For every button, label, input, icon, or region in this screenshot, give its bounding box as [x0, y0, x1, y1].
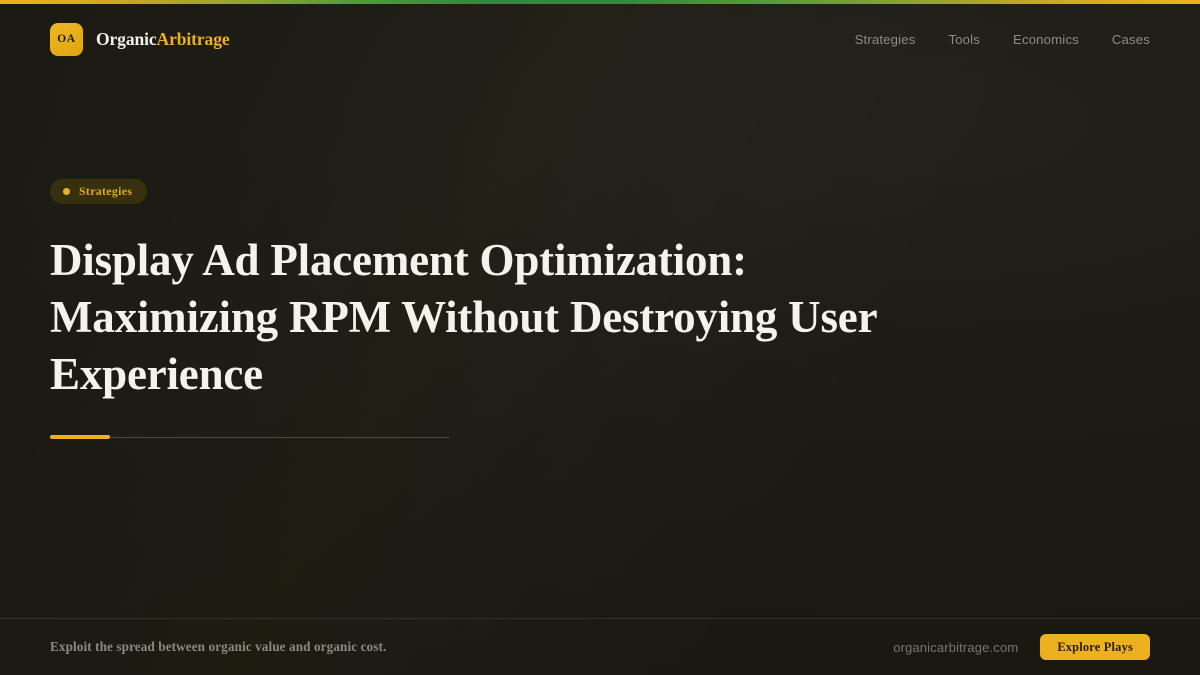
page-root: OA OrganicArbitrage Strategies Tools Eco… [0, 0, 1200, 675]
top-accent-gradient-bar [0, 0, 1200, 4]
brand-name-accent: Arbitrage [157, 29, 230, 49]
footer-domain-label: organicarbitrage.com [893, 640, 1018, 655]
category-badge[interactable]: Strategies [50, 179, 147, 204]
footer-actions: organicarbitrage.com Explore Plays [893, 634, 1150, 660]
category-badge-label: Strategies [79, 184, 132, 199]
divider-faint-segment [110, 437, 450, 438]
page-title: Display Ad Placement Optimization: Maxim… [50, 232, 980, 403]
site-footer: Exploit the spread between organic value… [0, 618, 1200, 675]
hero-content: Strategies Display Ad Placement Optimiza… [50, 179, 1060, 439]
brand-name-primary: Organic [96, 29, 157, 49]
site-header: OA OrganicArbitrage Strategies Tools Eco… [0, 4, 1200, 74]
divider-accent-segment [50, 435, 110, 439]
footer-tagline: Exploit the spread between organic value… [50, 639, 386, 655]
brand-wordmark: OrganicArbitrage [96, 29, 230, 50]
brand-monogram-icon: OA [50, 23, 83, 56]
brand-logo[interactable]: OA OrganicArbitrage [50, 23, 230, 56]
nav-item-cases[interactable]: Cases [1112, 32, 1150, 47]
explore-plays-button[interactable]: Explore Plays [1040, 634, 1150, 660]
hero-section: Strategies Display Ad Placement Optimiza… [0, 0, 1200, 618]
nav-item-economics[interactable]: Economics [1013, 32, 1079, 47]
title-divider [50, 435, 450, 439]
nav-item-strategies[interactable]: Strategies [855, 32, 916, 47]
main-navigation: Strategies Tools Economics Cases [855, 32, 1150, 47]
dot-icon [63, 188, 70, 195]
nav-item-tools[interactable]: Tools [948, 32, 980, 47]
